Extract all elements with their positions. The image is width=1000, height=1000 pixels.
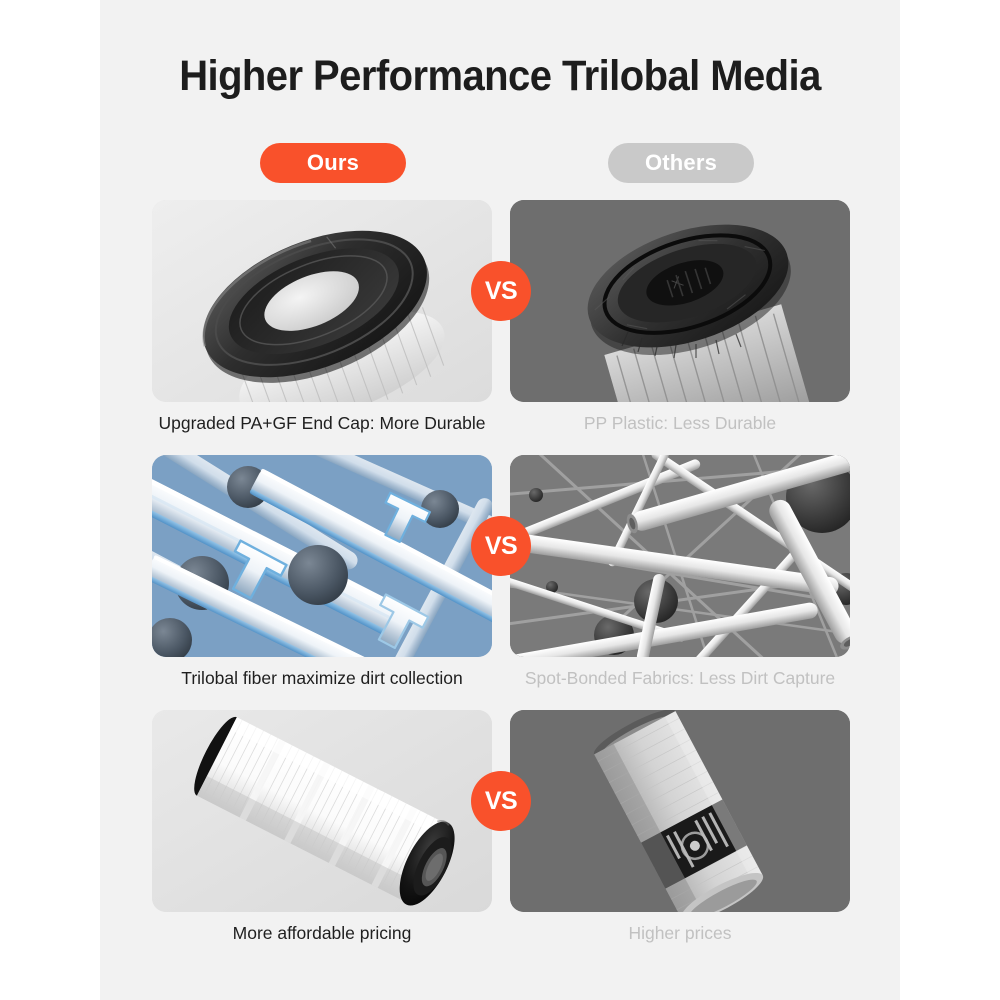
ours-image-card-3 — [152, 710, 492, 912]
comparison-row-3: VS — [100, 710, 900, 965]
ours-badge: Ours — [260, 143, 406, 183]
comparison-row-2: VS — [100, 455, 900, 710]
others-image-card-2 — [510, 455, 850, 657]
page-title: Higher Performance Trilobal Media — [128, 52, 872, 101]
round-fiber-render — [510, 455, 850, 657]
ours-caption-3: More affordable pricing — [152, 922, 492, 944]
trilobal-fiber-render — [152, 455, 492, 657]
comparison-row-1: VS — [100, 200, 900, 455]
vs-badge-3: VS — [471, 771, 531, 831]
infographic-page: Higher Performance Trilobal Media Ours O… — [0, 0, 1000, 1000]
ours-image-card-1 — [152, 200, 492, 402]
gray-filter-cartridge-photo — [510, 710, 850, 912]
others-badge: Others — [608, 143, 754, 183]
white-filter-cartridge-photo — [152, 710, 492, 912]
black-end-cap-filter-photo — [152, 200, 492, 402]
vs-badge-1: VS — [471, 261, 531, 321]
others-image-card-3 — [510, 710, 850, 912]
vs-badge-2: VS — [471, 516, 531, 576]
others-caption-3: Higher prices — [510, 922, 850, 944]
ours-caption-1: Upgraded PA+GF End Cap: More Durable — [152, 412, 492, 434]
ours-image-card-2 — [152, 455, 492, 657]
others-caption-2: Spot-Bonded Fabrics: Less Dirt Capture — [510, 667, 850, 689]
others-caption-1: PP Plastic: Less Durable — [510, 412, 850, 434]
others-image-card-1 — [510, 200, 850, 402]
header-pill-row: Ours Others — [100, 143, 900, 187]
gray-degraded-end-cap-filter-photo — [510, 200, 850, 402]
canvas-panel: Higher Performance Trilobal Media Ours O… — [100, 0, 900, 1000]
ours-caption-2: Trilobal fiber maximize dirt collection — [152, 667, 492, 689]
